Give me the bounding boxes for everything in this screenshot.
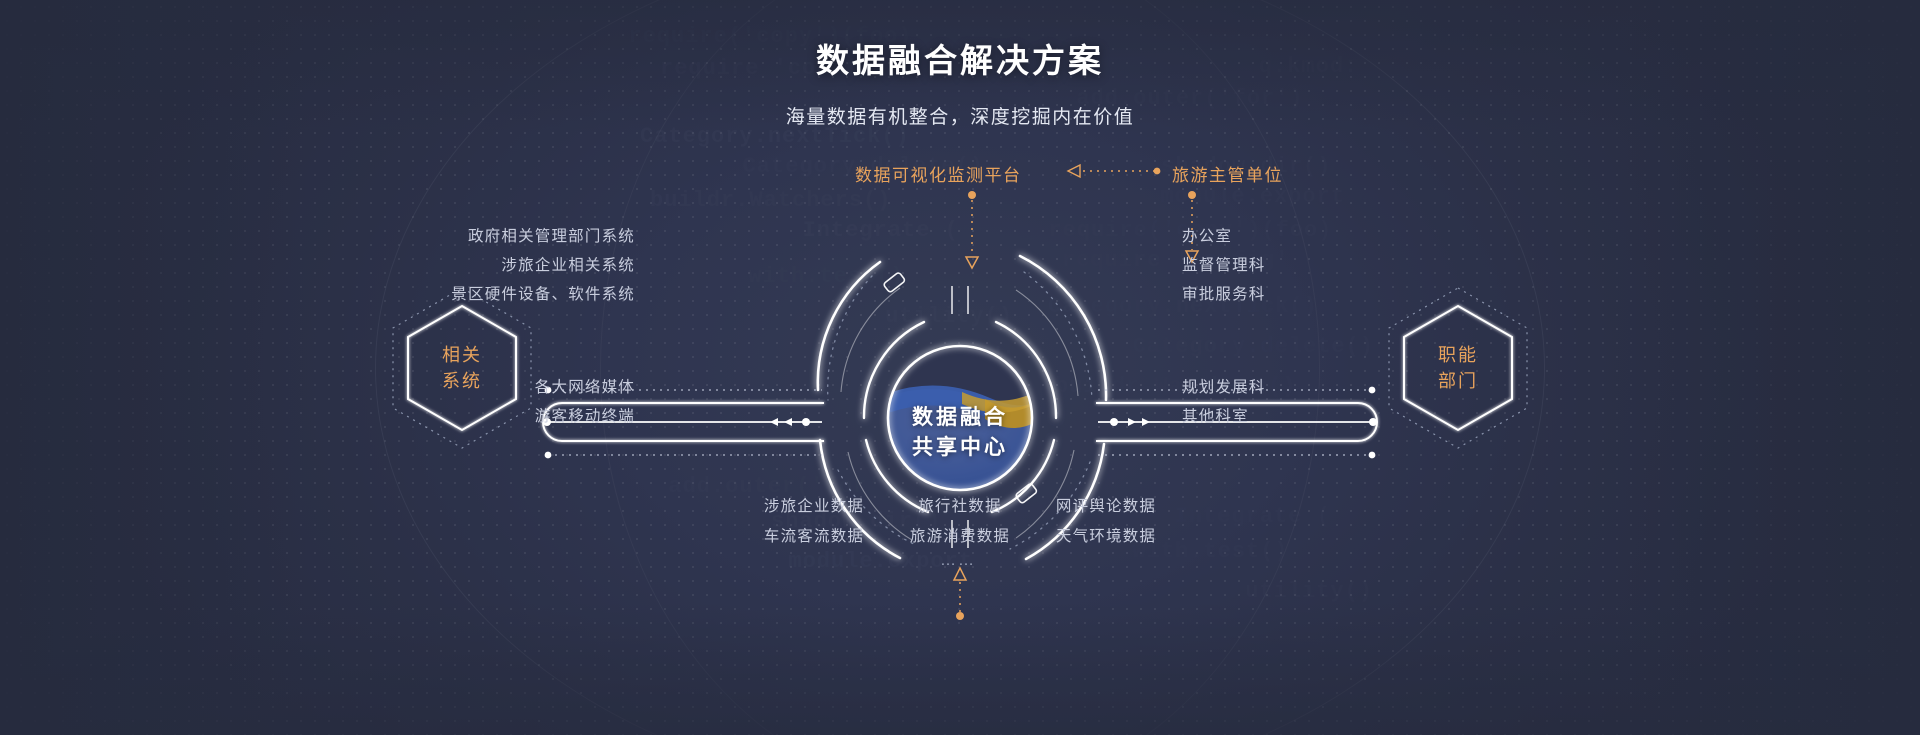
left-item-0: 政府相关管理部门系统 [385,224,635,246]
center-node-text: 数据融合 共享中心 [0,403,1920,463]
page-subtitle: 海量数据有机整合，深度挖掘内在价值 [0,102,1920,129]
left-node-line1: 相关 [442,342,482,368]
left-item-1: 涉旅企业相关系统 [385,253,635,275]
infographic-stage: require('copy')(foo)require 'config'Cate… [0,0,1920,735]
top-right-label: 旅游主管单位 [1172,161,1283,186]
right-item-2: 审批服务科 [1182,282,1266,304]
page-title: 数据融合解决方案 [0,34,1920,82]
left-node-line2: 系统 [442,368,482,394]
bottom-item-4: 旅游消费数据 [900,524,1020,546]
bottom-ellipsis: …… [940,552,976,570]
right-item-0: 办公室 [1182,224,1232,246]
bottom-item-0: 涉旅企业数据 [754,494,874,516]
bottom-item-1: 旅行社数据 [900,494,1020,516]
right-item-1: 监督管理科 [1182,253,1266,275]
header-block: 数据融合解决方案 海量数据有机整合，深度挖掘内在价值 [0,34,1920,129]
right-node-line1: 职能 [1438,342,1478,368]
center-node-line1: 数据融合 [0,403,1920,433]
right-node-line2: 部门 [1438,368,1478,394]
bottom-item-2: 网评舆论数据 [1046,494,1166,516]
bottom-orange-connector [954,568,966,620]
bottom-item-5: 天气环境数据 [1046,524,1166,546]
bottom-item-3: 车流客流数据 [754,524,874,546]
center-node-line2: 共享中心 [0,433,1920,463]
top-left-label: 数据可视化监测平台 [855,161,1022,186]
right-item-3: 规划发展科 [1182,375,1266,397]
